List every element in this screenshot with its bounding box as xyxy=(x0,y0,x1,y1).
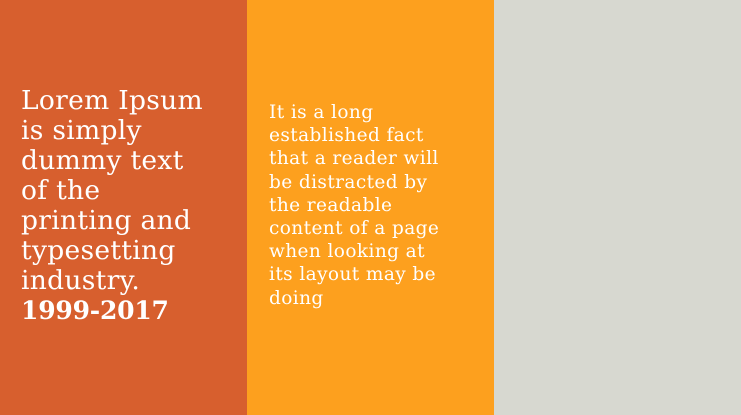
body-paragraph-panel: It is a long established fact that a rea… xyxy=(247,0,494,415)
headline-text: Lorem Ipsum is simply dummy text of the … xyxy=(21,86,239,296)
glyph-showcase-panel: a A xyxy=(494,0,741,415)
headline-year-range: 1999-2017 xyxy=(21,296,169,326)
font-specimen-card: Lorem Ipsum is simply dummy text of the … xyxy=(0,0,741,415)
headline-panel: Lorem Ipsum is simply dummy text of the … xyxy=(0,0,247,415)
body-paragraph-text: It is a long established fact that a rea… xyxy=(269,101,485,310)
